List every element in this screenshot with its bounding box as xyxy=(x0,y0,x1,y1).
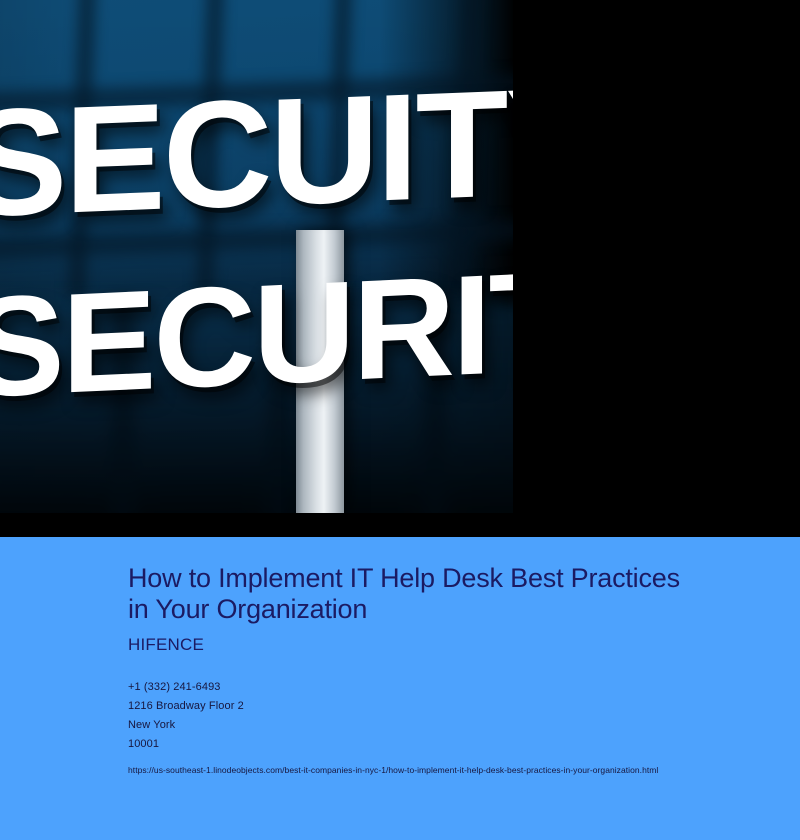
info-panel-content: How to Implement IT Help Desk Best Pract… xyxy=(128,537,688,781)
document-page: SECUITY SECURITY How to Implement IT Hel… xyxy=(0,0,800,840)
sign-lettering: SECUITY SECURITY xyxy=(0,0,513,513)
security-sign-photo: SECUITY SECURITY xyxy=(0,0,513,513)
contact-city: New York xyxy=(128,716,688,735)
contact-phone: +1 (332) 241-6493 xyxy=(128,678,688,697)
sign-word-bottom: SECURITY xyxy=(0,246,513,420)
sign-word-top: SECUITY xyxy=(0,64,513,241)
source-url-link[interactable]: https://us-southeast-1.linodeobjects.com… xyxy=(128,754,673,781)
brand-name: HIFENCE xyxy=(128,625,688,655)
contact-block: +1 (332) 241-6493 1216 Broadway Floor 2 … xyxy=(128,655,688,781)
contact-street: 1216 Broadway Floor 2 xyxy=(128,697,688,716)
contact-postal-code: 10001 xyxy=(128,735,688,754)
hero-image-band: SECUITY SECURITY xyxy=(0,0,800,537)
info-panel: How to Implement IT Help Desk Best Pract… xyxy=(0,537,800,840)
page-title: How to Implement IT Help Desk Best Pract… xyxy=(128,537,688,625)
